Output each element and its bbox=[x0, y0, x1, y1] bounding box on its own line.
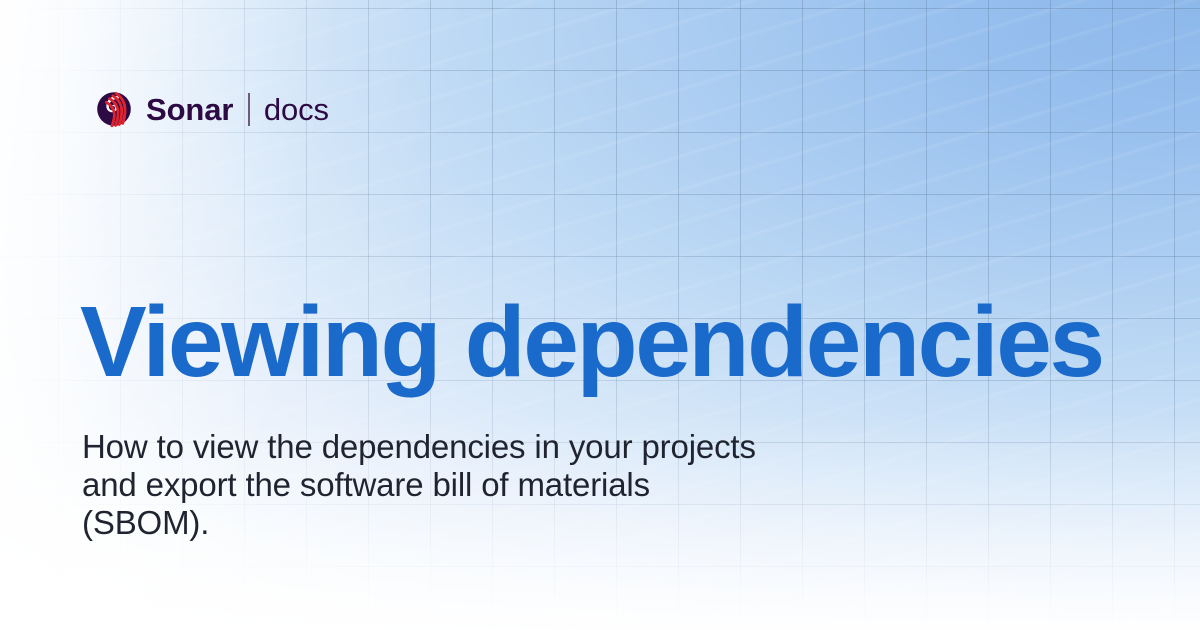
logo-wordmark: Sonar bbox=[146, 94, 233, 125]
sonar-logo-mark bbox=[94, 89, 134, 129]
logo-section-label: docs bbox=[264, 94, 329, 125]
social-card-banner: Sonar docs Viewing dependencies How to v… bbox=[0, 0, 1200, 630]
sonar-docs-logo[interactable]: Sonar docs bbox=[94, 87, 329, 131]
page-subtitle: How to view the dependencies in your pro… bbox=[82, 428, 772, 542]
banner-content: Sonar docs Viewing dependencies How to v… bbox=[0, 0, 1200, 630]
logo-divider bbox=[248, 93, 250, 126]
page-title: Viewing dependencies bbox=[80, 292, 1150, 392]
